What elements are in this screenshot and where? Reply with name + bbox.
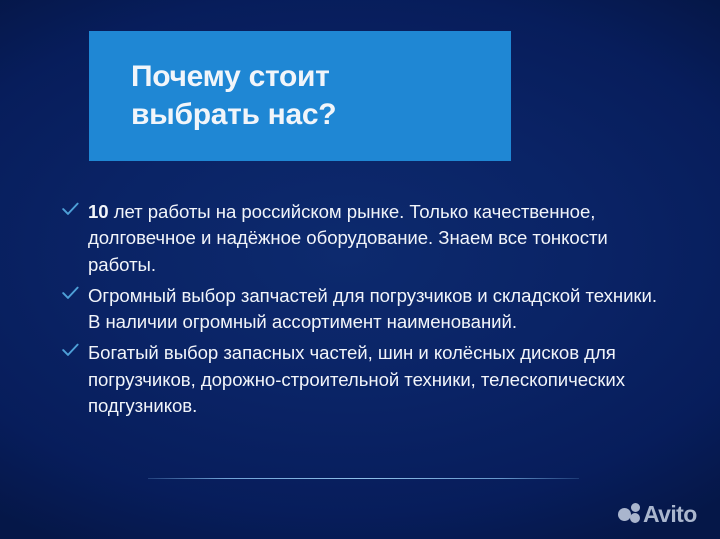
dot-large-icon (618, 508, 631, 521)
dot-small-icon (630, 513, 640, 523)
list-item-text: Огромный выбор запчастей для погрузчиков… (88, 283, 662, 340)
list-item-body: Огромный выбор запчастей для погрузчиков… (88, 285, 657, 332)
page-title: Почему стоит выбрать нас? (131, 58, 491, 134)
list-item: Огромный выбор запчастей для погрузчиков… (62, 283, 662, 340)
list-item-text: 10 лет работы на российском рынке. Тольк… (88, 199, 662, 282)
benefits-list: 10 лет работы на российском рынке. Тольк… (62, 199, 662, 424)
list-item-lead: 10 (88, 201, 109, 222)
check-icon (62, 199, 88, 216)
horizontal-divider (148, 478, 579, 479)
list-item: 10 лет работы на российском рынке. Тольк… (62, 199, 662, 282)
list-item-body: лет работы на российском рынке. Только к… (88, 201, 608, 275)
slide-canvas: Почему стоит выбрать нас? 10 лет работы … (0, 0, 720, 539)
list-item: Богатый выбор запасных частей, шин и кол… (62, 340, 662, 423)
avito-dots-icon (618, 503, 642, 525)
check-icon (62, 283, 88, 300)
check-icon (62, 340, 88, 357)
avito-watermark: Avito (618, 500, 697, 528)
avito-wordmark: Avito (643, 503, 697, 526)
list-item-text: Богатый выбор запасных частей, шин и кол… (88, 340, 662, 423)
dot-medium-icon (631, 503, 640, 512)
heading-accent-box: Почему стоит выбрать нас? (89, 31, 511, 161)
list-item-body: Богатый выбор запасных частей, шин и кол… (88, 342, 625, 416)
